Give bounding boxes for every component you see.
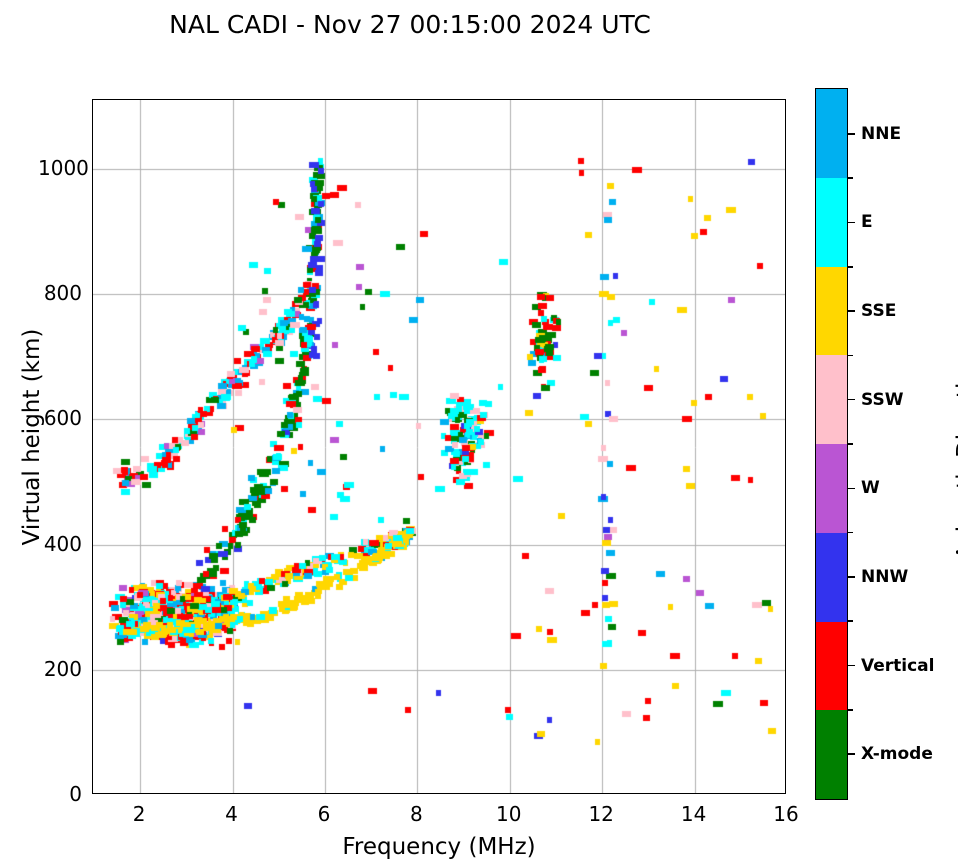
colorbar-segment-nnw [816, 533, 847, 622]
tick-dash-icon [848, 576, 855, 578]
tick-dash-icon [848, 133, 855, 135]
colorbar-label-text: SSE [861, 301, 896, 321]
tick-dash-icon [848, 709, 853, 711]
colorbar-segment-vertical [816, 622, 847, 711]
colorbar-segment-e [816, 178, 847, 267]
tick-dash-icon [848, 177, 853, 179]
y-tick-label: 200 [38, 657, 82, 681]
colorbar-segment-nne [816, 89, 847, 178]
y-tick-label: 1000 [38, 156, 82, 180]
colorbar-label-text: SSW [861, 390, 903, 410]
colorbar-segment-x-mode [816, 710, 847, 799]
tick-dash-icon [848, 266, 853, 268]
tick-dash-icon [848, 488, 855, 490]
x-tick-label: 12 [571, 802, 631, 826]
tick-dash-icon [848, 443, 853, 445]
tick-dash-icon [848, 355, 853, 357]
colorbar-label-text: W [861, 478, 880, 498]
colorbar-segment-ssw [816, 355, 847, 444]
x-tick-label: 2 [109, 802, 169, 826]
colorbar-label-text: NNE [861, 124, 901, 144]
colorbar-title: Azimuth Direction [953, 257, 958, 657]
ionogram-figure: NAL CADI - Nov 27 00:15:00 2024 UTC 0200… [0, 0, 958, 857]
scatter-canvas [93, 100, 786, 794]
colorbar-label-text: X-mode [861, 744, 933, 764]
x-axis-ticks: 246810121416 [0, 802, 958, 832]
colorbar-segment-w [816, 444, 847, 533]
x-tick-label: 4 [202, 802, 262, 826]
colorbar-label-text: NNW [861, 567, 908, 587]
y-axis-label: Virtual height (km) [19, 237, 45, 637]
colorbar-ticks: NNEESSESSWWNNWVerticalX-mode [848, 88, 958, 800]
colorbar-label-text: Vertical [861, 656, 934, 676]
plot-area [92, 99, 786, 794]
tick-dash-icon [848, 665, 855, 667]
x-tick-label: 16 [756, 802, 816, 826]
colorbar-label-text: E [861, 212, 873, 232]
tick-dash-icon [848, 310, 855, 312]
x-axis-label: Frequency (MHz) [92, 834, 786, 860]
page-title: NAL CADI - Nov 27 00:15:00 2024 UTC [0, 10, 820, 39]
colorbar-segment-sse [816, 267, 847, 356]
tick-dash-icon [848, 620, 853, 622]
x-tick-label: 6 [294, 802, 354, 826]
colorbar [815, 88, 848, 800]
tick-dash-icon [848, 222, 855, 224]
x-tick-label: 14 [664, 802, 724, 826]
tick-dash-icon [848, 753, 855, 755]
x-tick-label: 10 [479, 802, 539, 826]
x-tick-label: 8 [386, 802, 446, 826]
tick-dash-icon [848, 399, 855, 401]
tick-dash-icon [848, 532, 853, 534]
